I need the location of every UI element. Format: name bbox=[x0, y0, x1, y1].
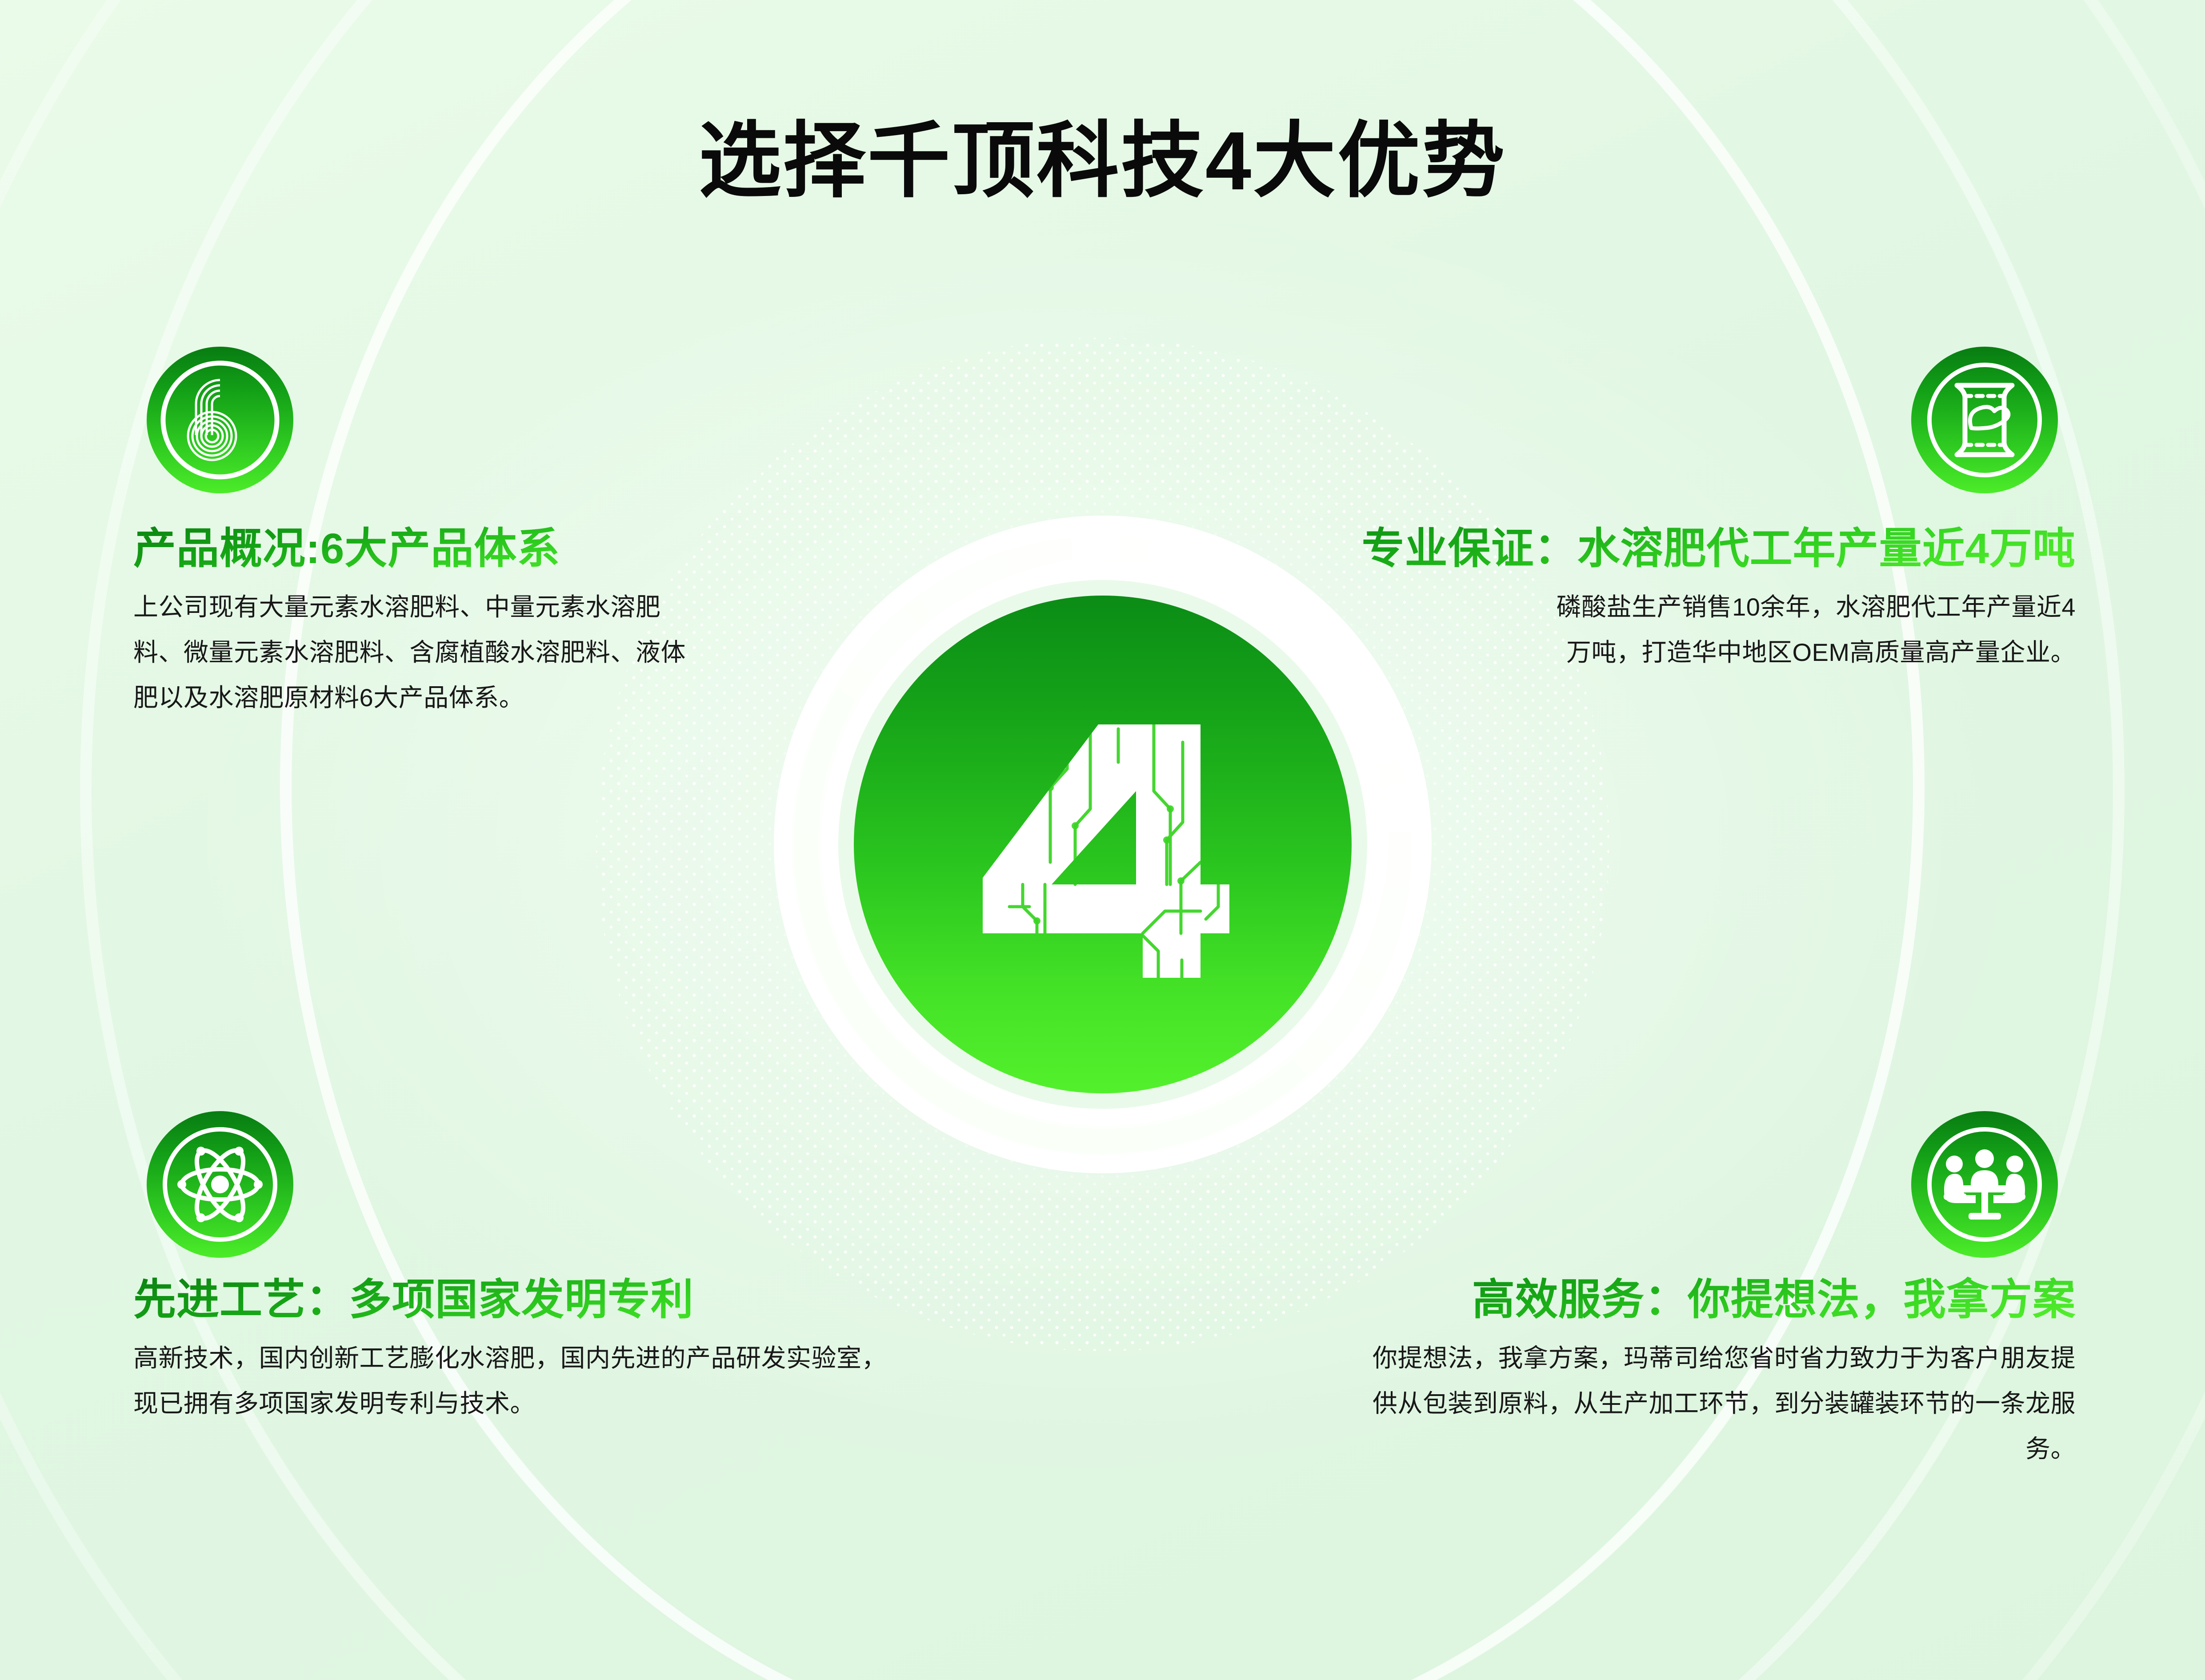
advantage-heading: 高效服务：你提想法，我拿方案 bbox=[1311, 1276, 2076, 1324]
advantage-block-efficient-service: 高效服务：你提想法，我拿方案 你提想法，我拿方案，玛蒂司给您省时省力致力于为客户… bbox=[1311, 1276, 2076, 1472]
advantage-body: 上公司现有大量元素水溶肥料、中量元素水溶肥料、微量元素水溶肥料、含腐植酸水溶肥料… bbox=[133, 584, 707, 720]
badge-efficient-service[interactable] bbox=[1911, 1111, 2058, 1258]
advantage-block-professional-guarantee: 专业保证：水溶肥代工年产量近4万吨 磷酸盐生产销售10余年，水溶肥代工年产量近4… bbox=[1173, 524, 2076, 675]
advantage-body: 你提想法，我拿方案，玛蒂司给您省时省力致力于为客户朋友提供从包装到原料，从生产加… bbox=[1356, 1336, 2076, 1472]
center-emblem bbox=[596, 338, 1609, 1351]
advantage-body: 磷酸盐生产销售10余年，水溶肥代工年产量近4万吨，打造华中地区OEM高质量高产量… bbox=[1542, 584, 2076, 675]
badge-professional-guarantee[interactable] bbox=[1911, 347, 2058, 493]
atom-icon bbox=[153, 1118, 287, 1251]
advantage-block-advanced-process: 先进工艺：多项国家发明专利 高新技术，国内创新工艺膨化水溶肥，国内先进的产品研发… bbox=[133, 1276, 889, 1426]
advantages-poster: 选择千顶科技4大优势 bbox=[0, 0, 2205, 1680]
number-six-rings-icon bbox=[153, 353, 287, 487]
advantage-heading: 专业保证：水溶肥代工年产量近4万吨 bbox=[1173, 524, 2076, 573]
circuit-four-emblem-icon bbox=[934, 676, 1272, 1013]
meeting-team-icon bbox=[1918, 1118, 2051, 1251]
advantage-heading: 产品概况:6大产品体系 bbox=[133, 524, 707, 573]
advantage-body: 高新技术，国内创新工艺膨化水溶肥，国内先进的产品研发实验室，现已拥有多项国家发明… bbox=[133, 1336, 889, 1426]
advantage-block-product-overview: 产品概况:6大产品体系 上公司现有大量元素水溶肥料、中量元素水溶肥料、微量元素水… bbox=[133, 524, 707, 720]
advantage-heading: 先进工艺：多项国家发明专利 bbox=[133, 1276, 889, 1324]
fertilizer-bag-icon bbox=[1918, 353, 2051, 487]
badge-advanced-process[interactable] bbox=[147, 1111, 293, 1258]
badge-product-overview[interactable] bbox=[147, 347, 293, 493]
page-title: 选择千顶科技4大优势 bbox=[0, 93, 2205, 213]
